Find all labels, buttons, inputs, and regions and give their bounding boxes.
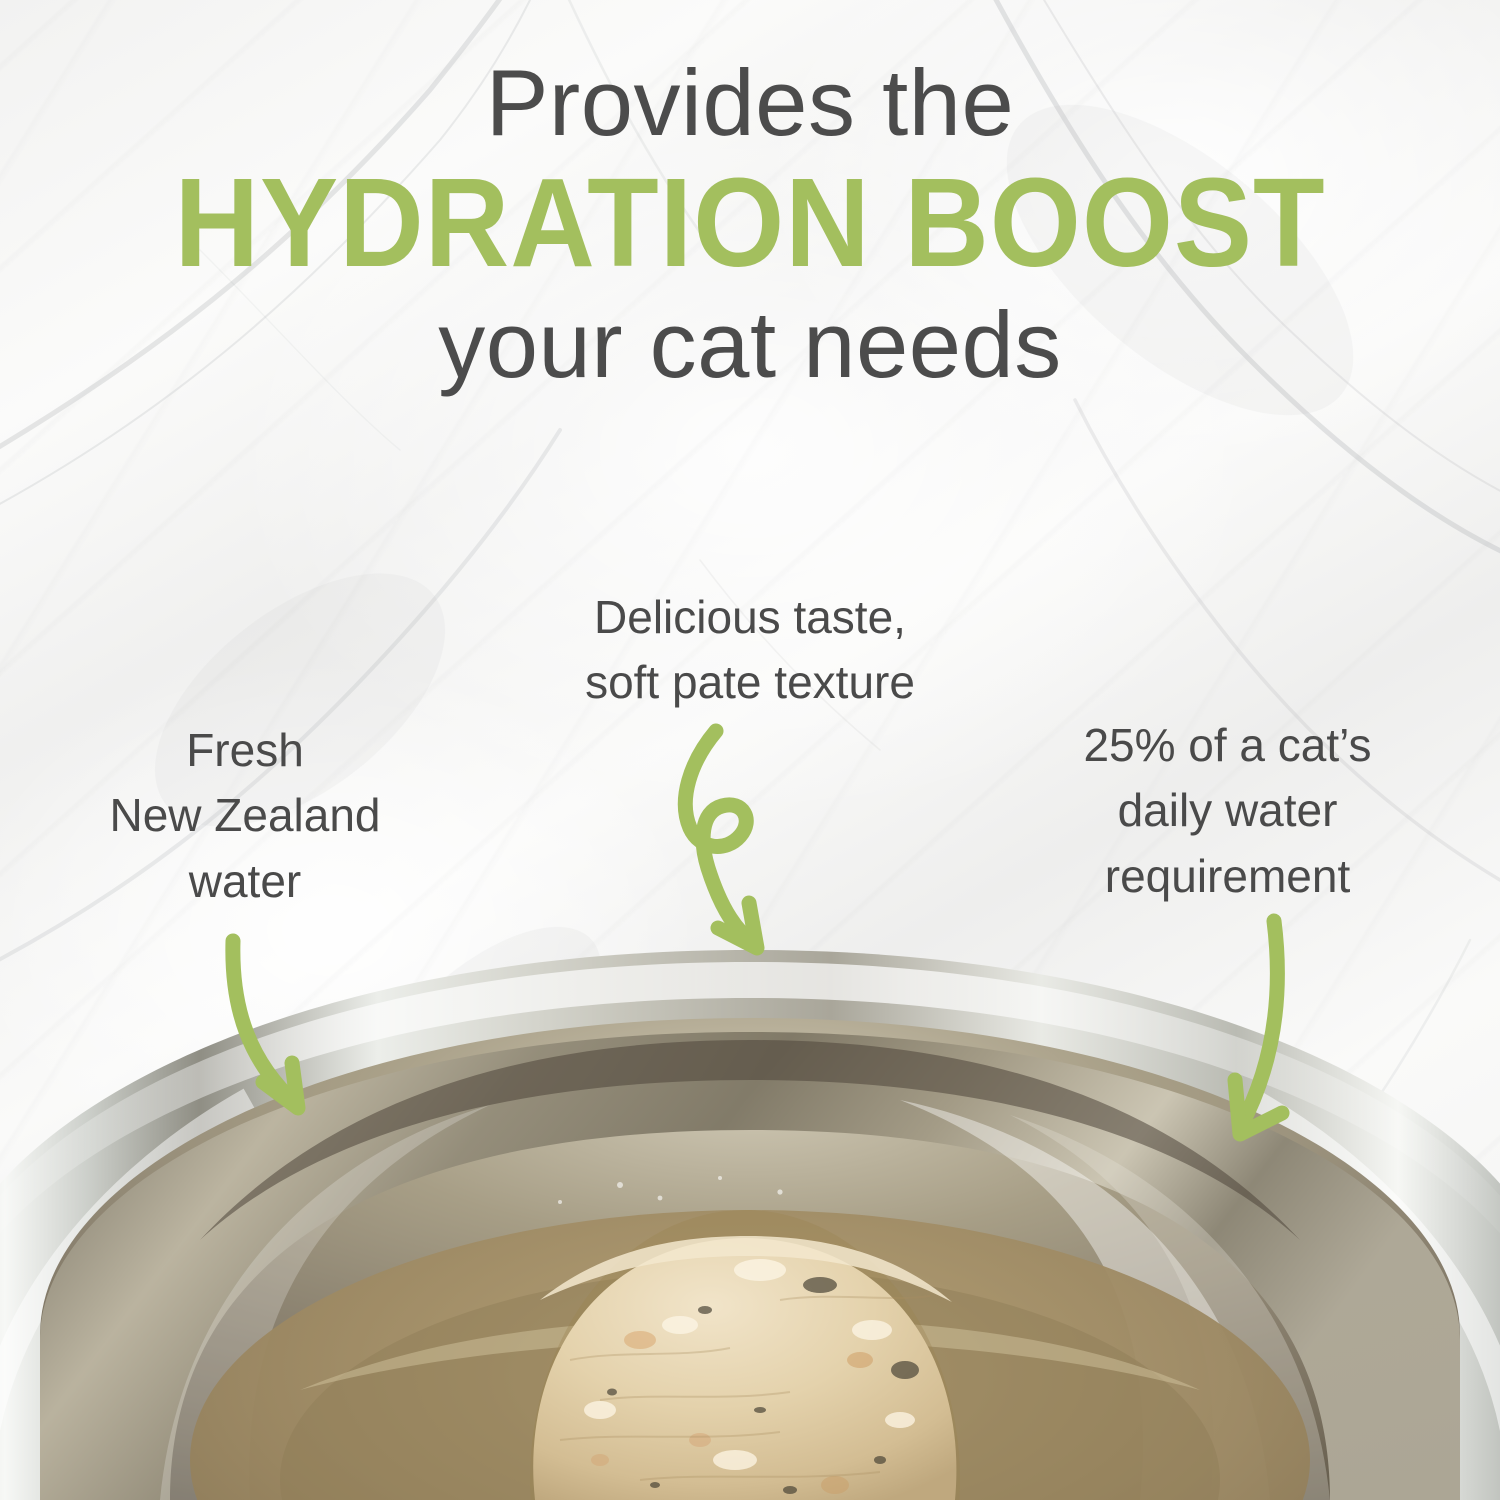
headline-line-3: your cat needs bbox=[0, 298, 1500, 392]
callout-right-text: 25% of a cat’s daily water requirement bbox=[1040, 713, 1415, 909]
callout-left-text: Fresh New Zealand water bbox=[60, 718, 430, 914]
product-infographic: Provides the HYDRATION BOOST your cat ne… bbox=[0, 0, 1500, 1500]
headline-line-2-accent: HYDRATION BOOST bbox=[53, 160, 1448, 286]
callout-center-text: Delicious taste, soft pate texture bbox=[520, 585, 980, 716]
bowl-illustration bbox=[0, 940, 1500, 1500]
headline-line-1: Provides the bbox=[0, 56, 1500, 150]
product-bowl-photo bbox=[0, 940, 1500, 1500]
headline-block: Provides the HYDRATION BOOST your cat ne… bbox=[0, 56, 1500, 392]
